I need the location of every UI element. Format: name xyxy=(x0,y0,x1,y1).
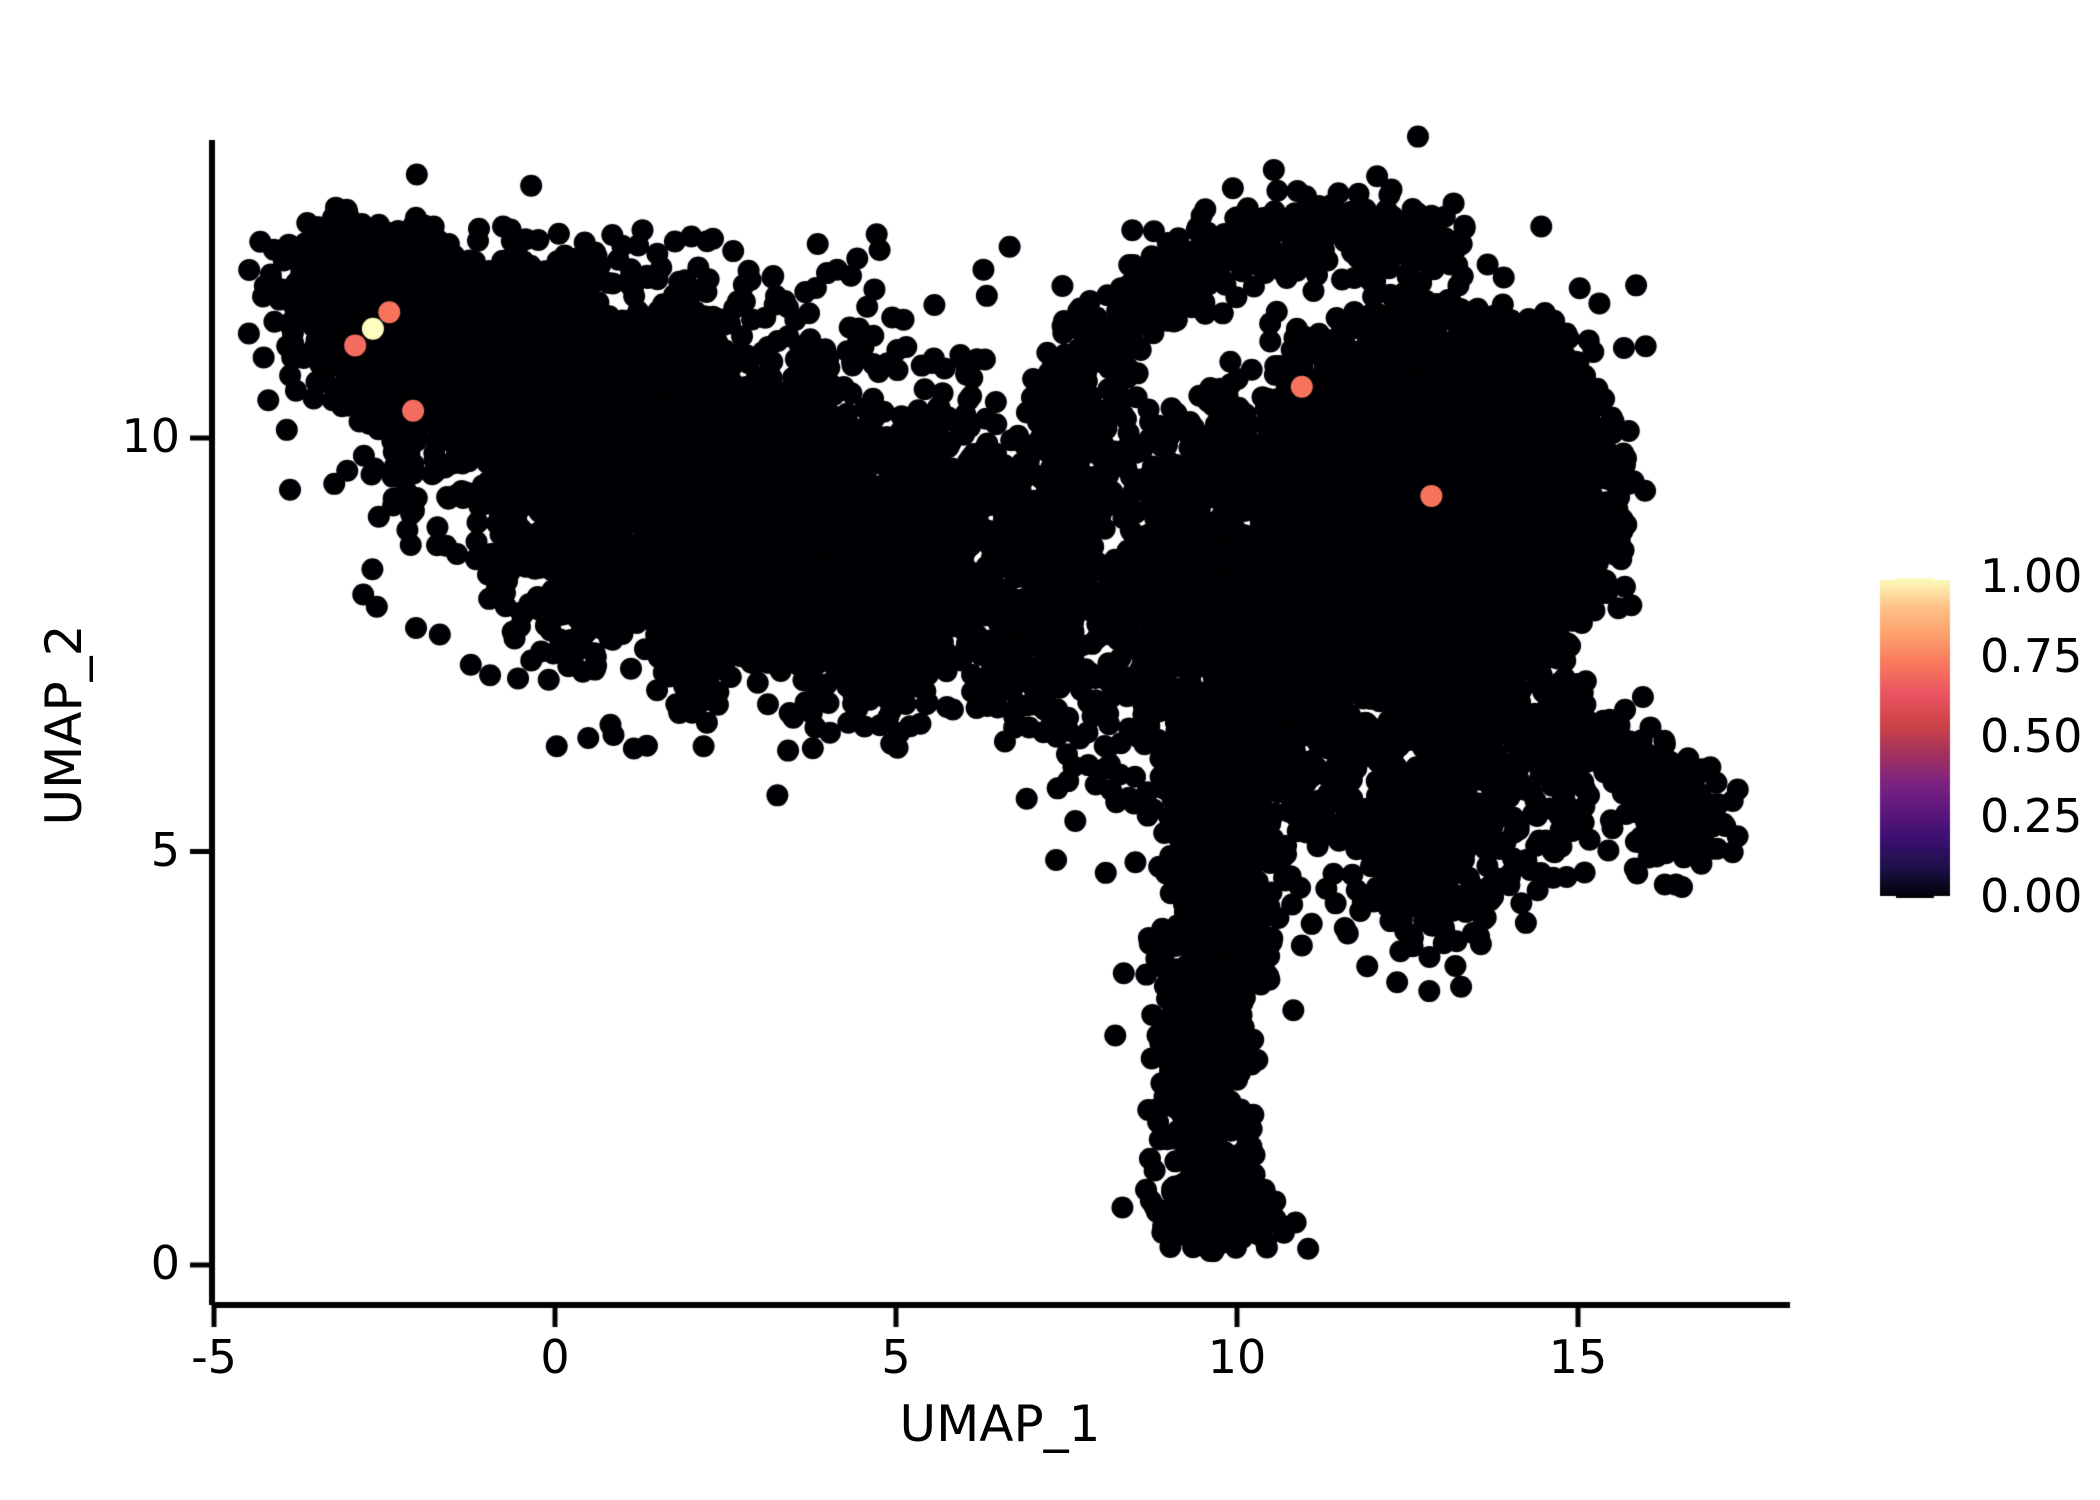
y-tick-label: 10 xyxy=(20,409,180,463)
x-tick-label: -5 xyxy=(114,1330,314,1384)
scatter-plot-canvas[interactable] xyxy=(0,0,2100,1500)
x-tick-label: 15 xyxy=(1478,1330,1678,1384)
umap-figure: OASL UMAP_1 UMAP_2 -5051015 0510 1.000.7… xyxy=(0,0,2100,1500)
colorbar-tick-label: 0.75 xyxy=(1980,629,2082,683)
y-axis-label: UMAP_2 xyxy=(35,375,93,1075)
colorbar-tick-label: 1.00 xyxy=(1980,549,2082,603)
colorbar-tick-label: 0.00 xyxy=(1980,869,2082,923)
x-tick-label: 0 xyxy=(455,1330,655,1384)
colorbar-tick-label: 0.50 xyxy=(1980,709,2082,763)
y-tick-label: 5 xyxy=(20,823,180,877)
x-tick-label: 10 xyxy=(1137,1330,1337,1384)
y-tick-label: 0 xyxy=(20,1236,180,1290)
colorbar-tick-label: 0.25 xyxy=(1980,789,2082,843)
x-axis-label: UMAP_1 xyxy=(210,1395,1790,1453)
x-tick-label: 5 xyxy=(796,1330,996,1384)
